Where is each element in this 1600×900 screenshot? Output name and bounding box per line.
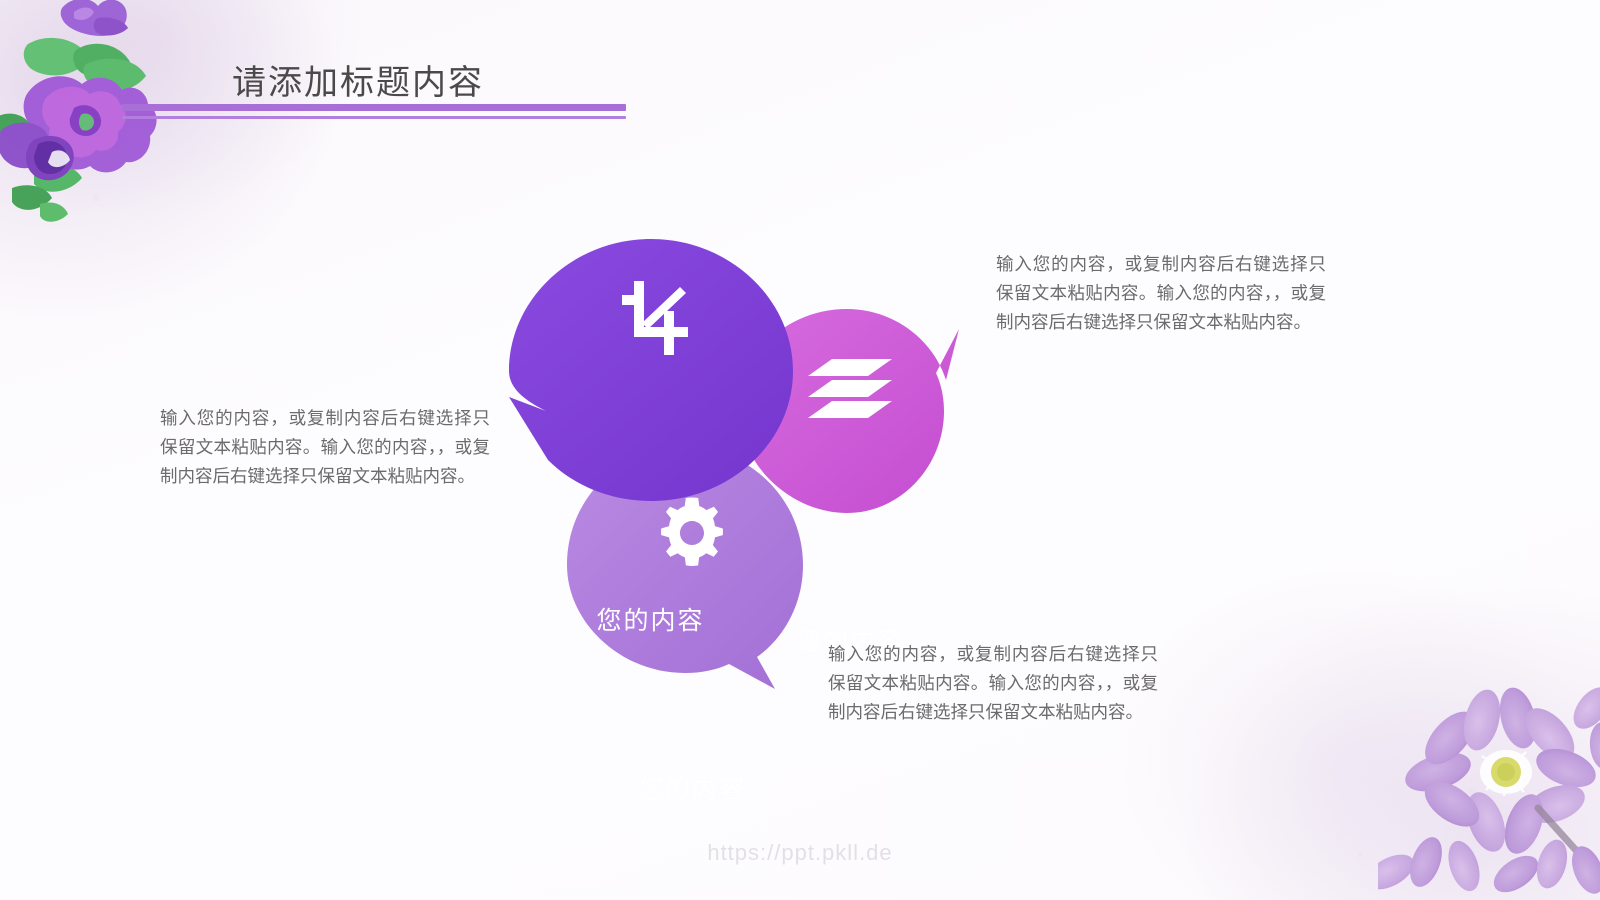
bubble-1-shape [503, 233, 798, 513]
page-title: 请添加标题内容 [232, 55, 484, 104]
crop-icon [618, 281, 692, 355]
slide-canvas: 请添加标题内容 您的内容 [0, 0, 1600, 900]
bubble-3-label: 您的内容 [561, 770, 823, 806]
speech-bubble-1[interactable]: 您的内容 [503, 233, 798, 513]
description-bottom-right: 输入您的内容，或复制内容后右键选择只保留文本粘贴内容。输入您的内容，，或复制内容… [828, 640, 1158, 727]
bubble-1-label: 您的内容 [503, 601, 798, 637]
description-top-right: 输入您的内容，或复制内容后右键选择只保留文本粘贴内容。输入您的内容，，或复制内容… [996, 250, 1326, 337]
layers-icon [806, 357, 894, 421]
floral-decoration-top-left [0, 0, 220, 227]
title-rule-thin [122, 116, 626, 119]
title-rule-thick [122, 104, 626, 111]
description-left: 输入您的内容，或复制内容后右键选择只保留文本粘贴内容。输入您的内容，，或复制内容… [160, 404, 490, 491]
watermark-url: https://ppt.pkll.de [0, 840, 1600, 866]
